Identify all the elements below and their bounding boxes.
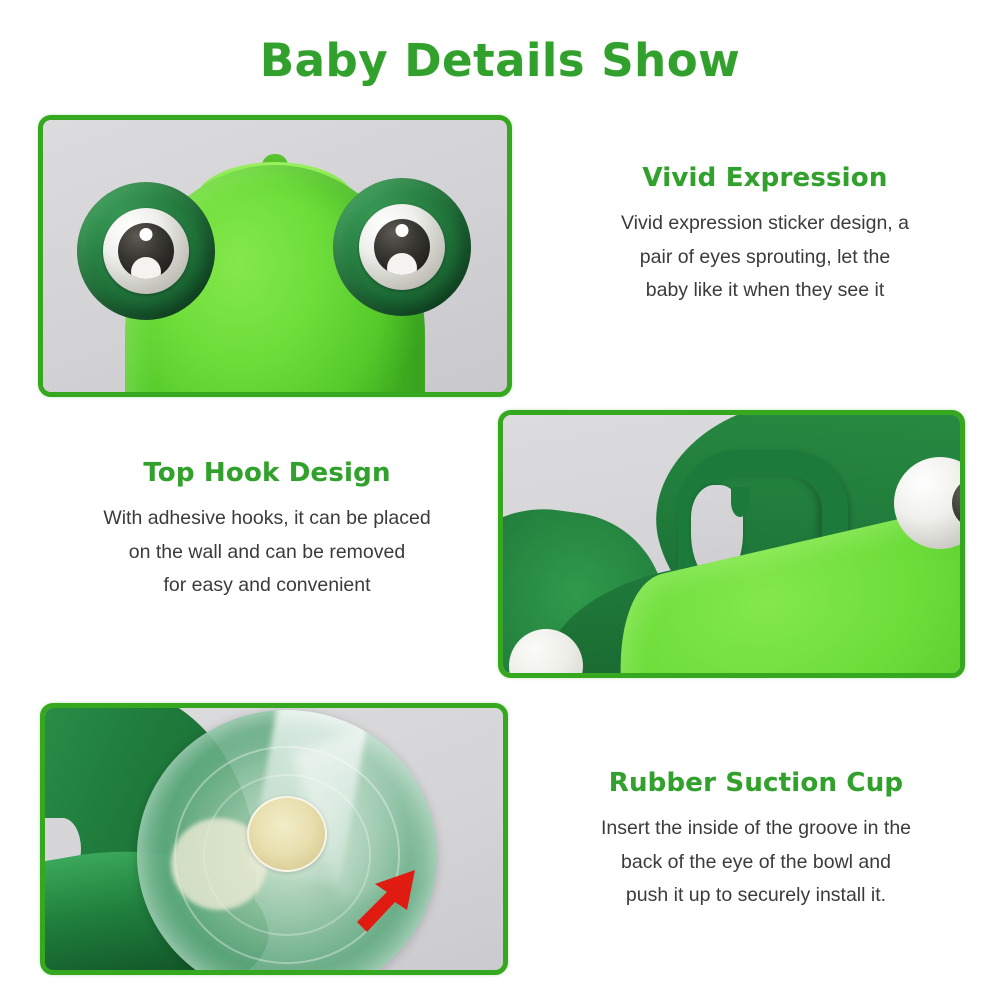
product-detail-page: Baby Details Show (0, 0, 1000, 1000)
eye-highlight-top-right (396, 224, 409, 237)
body-line: back of the eye of the bowl and (530, 846, 982, 880)
frog-eye-left (77, 182, 215, 320)
frog-face-photo (43, 120, 507, 392)
top-hook-photo-panel (498, 410, 965, 678)
suction-cup-photo-panel (40, 703, 508, 975)
body-line: Insert the inside of the groove in the (530, 812, 982, 846)
suction-cup-photo (45, 708, 503, 970)
vivid-expression-text-block: Vivid Expression Vivid expression sticke… (545, 163, 985, 308)
body-line: for easy and convenient (36, 569, 498, 603)
top-hook-design-body: With adhesive hooks, it can be placed on… (36, 502, 498, 603)
rubber-suction-cup-heading: Rubber Suction Cup (530, 768, 982, 798)
top-hook-photo (503, 415, 960, 673)
rubber-suction-cup-text-block: Rubber Suction Cup Insert the inside of … (530, 768, 982, 913)
top-hook-design-heading: Top Hook Design (36, 458, 498, 488)
hook-keyhole-notch (731, 487, 749, 517)
page-title: Baby Details Show (0, 34, 1000, 87)
frog-face-photo-panel (38, 115, 512, 397)
eye-pupil-right (374, 219, 430, 275)
eye-highlight-bottom-right (387, 253, 417, 275)
eye-highlight-top-left (140, 228, 153, 241)
eye-pupil-left (118, 223, 174, 279)
eye-highlight-bottom-left (131, 257, 161, 279)
eye-ring-right (359, 204, 445, 290)
vivid-expression-body: Vivid expression sticker design, a pair … (545, 207, 985, 308)
body-line: Vivid expression sticker design, a (545, 207, 985, 241)
top-hook-design-text-block: Top Hook Design With adhesive hooks, it … (36, 458, 498, 603)
body-line: baby like it when they see it (545, 274, 985, 308)
eye-ring-left (103, 208, 189, 294)
vivid-expression-heading: Vivid Expression (545, 163, 985, 193)
body-line: pair of eyes sprouting, let the (545, 241, 985, 275)
rubber-suction-cup-body: Insert the inside of the groove in the b… (530, 812, 982, 913)
body-line: push it up to securely install it. (530, 879, 982, 913)
body-line: on the wall and can be removed (36, 536, 498, 570)
red-arrow-annotation-icon (353, 862, 433, 934)
frog-eye-right (333, 178, 471, 316)
suction-cup-center-nub (247, 796, 327, 872)
body-line: With adhesive hooks, it can be placed (36, 502, 498, 536)
